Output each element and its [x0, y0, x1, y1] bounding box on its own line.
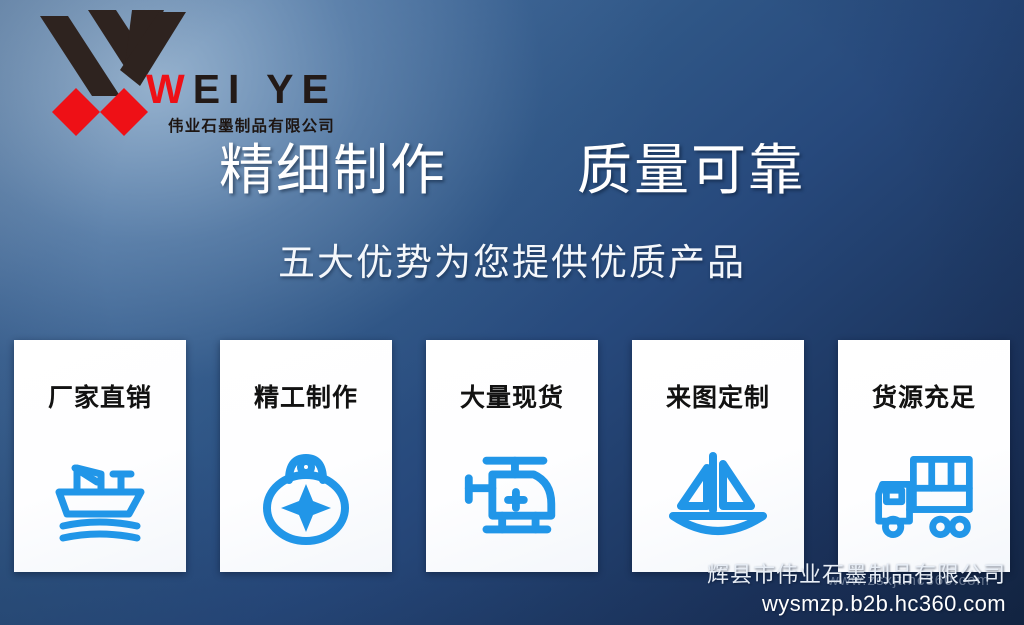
company-logo: W EI YE 伟业石墨制品有限公司 [28, 8, 328, 136]
advantage-card[interactable]: 厂家直销 [14, 340, 186, 572]
footer-url[interactable]: wysmzp.b2b.hc360.com [707, 591, 1006, 617]
advantage-card[interactable]: 大量现货 [426, 340, 598, 572]
advantage-card-list: 厂家直销 精工制作 [0, 340, 1024, 572]
logo-wordmark-w: W [146, 69, 193, 110]
advantage-card[interactable]: 精工制作 [220, 340, 392, 572]
headline: 精细制作 质量可靠 [0, 140, 1024, 202]
advantage-card-title: 货源充足 [872, 378, 976, 414]
advantage-card-title: 来图定制 [666, 378, 770, 414]
delivery-truck-icon [869, 444, 979, 548]
advantage-card[interactable]: 来图定制 [632, 340, 804, 572]
subheadline: 五大优势为您提供优质产品 [0, 232, 1024, 286]
helicopter-icon [457, 444, 567, 548]
advantage-card-title: 厂家直销 [48, 378, 152, 414]
sailboat-icon [663, 444, 773, 548]
advantage-card[interactable]: 货源充足 [838, 340, 1010, 572]
advantage-card-title: 大量现货 [460, 378, 564, 414]
logo-wordmark-eiye: EI YE [193, 69, 337, 110]
headline-left: 精细制作 [219, 140, 447, 202]
cargo-ship-icon [45, 444, 155, 548]
advantage-card-title: 精工制作 [254, 378, 358, 414]
watermark-text: www.zsxjt.hc360.com [828, 572, 990, 589]
headline-right: 质量可靠 [577, 140, 805, 202]
promo-banner: W EI YE 伟业石墨制品有限公司 精细制作 质量可靠 五大优势为您提供优质产… [0, 0, 1024, 625]
compass-icon [251, 444, 361, 548]
logo-chinese-name: 伟业石墨制品有限公司 [168, 114, 335, 136]
logo-wordmark: W EI YE [146, 66, 337, 112]
